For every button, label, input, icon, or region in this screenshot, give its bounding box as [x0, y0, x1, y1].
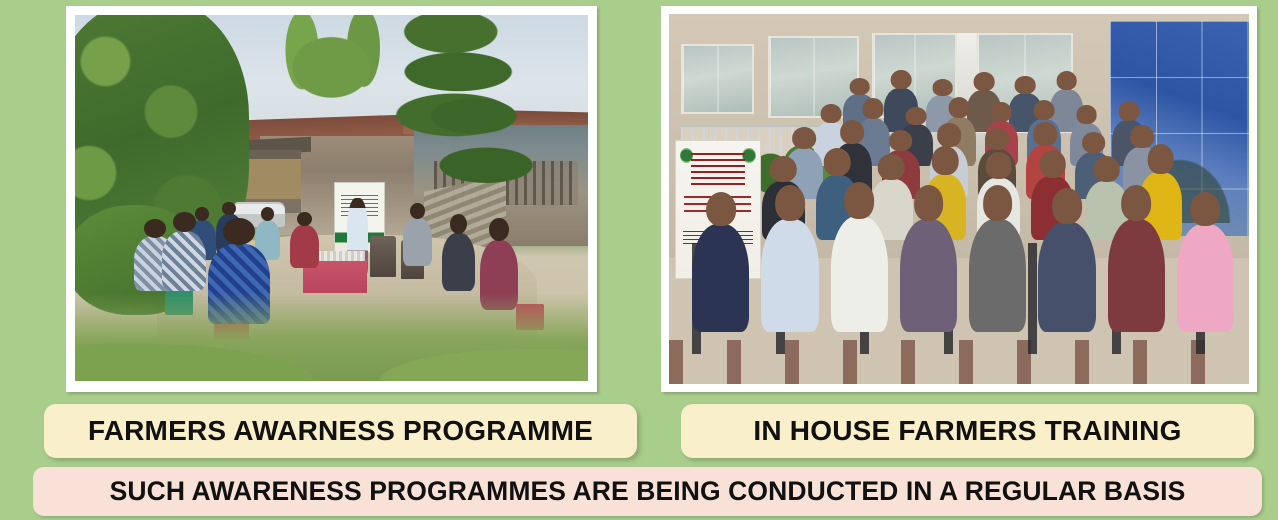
seated-participant [290, 225, 319, 267]
caption-right-text: IN HOUSE FARMERS TRAINING [753, 415, 1181, 447]
seated-participant [1177, 224, 1234, 332]
conifer-tree-front [403, 81, 557, 198]
seated-participant [831, 216, 888, 332]
photo-frame-in-house-training[interactable] [661, 6, 1257, 392]
seated-participant [900, 219, 957, 332]
bottom-summary-banner[interactable]: SUCH AWARENESS PROGRAMMES ARE BEING COND… [33, 467, 1262, 516]
seated-participant [1038, 222, 1095, 333]
banner-heading-text [691, 153, 745, 186]
caption-left-text: FARMERS AWARNESS PROGRAMME [88, 415, 593, 447]
seated-participant [969, 219, 1026, 332]
photo-farmers-awareness [75, 15, 588, 381]
caption-farmers-awareness[interactable]: FARMERS AWARNESS PROGRAMME [44, 404, 637, 458]
caption-in-house-training[interactable]: IN HOUSE FARMERS TRAINING [681, 404, 1254, 458]
palm-tree [270, 15, 393, 117]
photo-frame-farmers-awareness[interactable] [66, 6, 597, 392]
seated-participant [761, 219, 818, 332]
building-window [681, 44, 755, 115]
plastic-chair-1 [370, 236, 396, 276]
bottom-banner-text: SUCH AWARENESS PROGRAMMES ARE BEING COND… [110, 476, 1186, 507]
crowd-row-front-seated [692, 206, 1237, 332]
seated-participant [403, 218, 432, 266]
seated-participant [442, 233, 475, 292]
foreground-grass [75, 293, 588, 381]
seated-participant [692, 224, 749, 332]
seated-participant [1108, 219, 1165, 332]
slide-canvas: FARMERS AWARNESS PROGRAMME IN HOUSE FARM… [0, 0, 1278, 520]
photo-in-house-training [669, 14, 1249, 384]
seated-participant [162, 231, 206, 291]
